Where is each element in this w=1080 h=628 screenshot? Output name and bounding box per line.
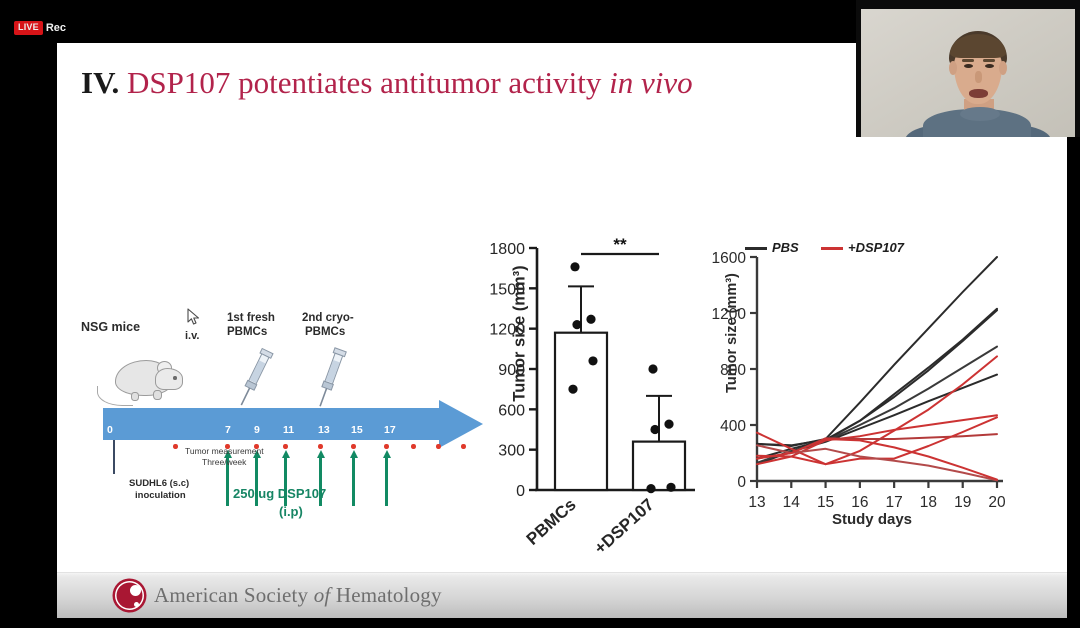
dose-label-line2: (i.p) [279, 504, 303, 519]
timeline-day-17: 17 [384, 424, 396, 436]
measurement-dot [283, 444, 288, 449]
inoculation-label-line1: SUDHL6 (s.c) [129, 478, 189, 489]
timeline-day-11: 11 [283, 424, 294, 436]
presenter-eyebrow-right [983, 59, 995, 62]
line-chart-x-axis-label: Study days [757, 511, 987, 528]
timeline-day-15: 15 [351, 424, 363, 436]
line-chart-ytick-0: 0 [737, 474, 746, 491]
tumor-size-endpoint-bar-chart: Tumor size (mm³) 0300600900120015001800P… [477, 228, 707, 548]
bar-chart-xtick-+DSP107: +DSP107 [591, 495, 658, 558]
line-chart-xtick-17: 17 [886, 494, 903, 511]
tumor-growth-curves-line-chart: Tumor size (mm³) Study days 040080012001… [697, 233, 1027, 553]
bar-+DSP107 [633, 442, 685, 490]
syringe-icon-first-pbmc [235, 346, 273, 412]
measurement-dot [411, 444, 416, 449]
screen-root: LIVE Rec IV. DSP107 potentiates anti [0, 0, 1080, 628]
line-chart-xtick-15: 15 [817, 494, 834, 511]
data-point-PBMCs [570, 262, 579, 271]
data-point-+DSP107 [664, 420, 673, 429]
line-chart-ytick-400: 400 [720, 418, 746, 435]
timeline-day-13: 13 [318, 424, 330, 436]
measurement-dot [461, 444, 466, 449]
series-line-PBS-2 [757, 309, 997, 446]
org-prefix: American Society [154, 583, 314, 607]
line-chart-xtick-18: 18 [920, 494, 937, 511]
legend-label-PBS: PBS [772, 240, 799, 255]
data-point-+DSP107 [666, 483, 675, 492]
line-chart-plot: 0400800120016001314151617181920 [697, 233, 1027, 533]
recording-indicator: LIVE Rec [14, 21, 66, 35]
bar-PBMCs [555, 333, 607, 490]
line-chart-xtick-14: 14 [783, 494, 801, 511]
mouse-illustration-icon [97, 348, 189, 410]
data-point-+DSP107 [650, 425, 659, 434]
presenter-nose [975, 71, 982, 83]
page-title: IV. DSP107 potentiates antitumor activit… [81, 65, 693, 101]
data-point-PBMCs [588, 356, 597, 365]
bar-chart-xtick-PBMCs: PBMCs [523, 495, 580, 549]
first-pbmc-label-line1: 1st fresh [227, 312, 275, 324]
tumor-measurement-label-line2: Three/week [202, 457, 246, 467]
syringe-icon-second-pbmc [311, 346, 349, 412]
timeline-day-9: 9 [254, 424, 260, 436]
org-suffix: Hematology [336, 583, 442, 607]
timeline-arrow: 07911131517 [103, 408, 483, 440]
presenter-eye-left [964, 64, 973, 68]
organization-name: American Society of Hematology [154, 583, 442, 608]
mouse-eye [173, 376, 177, 380]
line-chart-y-axis-label: Tumor size (mm³) [724, 258, 740, 408]
bar-chart-ytick-1800: 1800 [489, 241, 525, 258]
title-main-text: DSP107 potentiates antitumor activity [127, 65, 609, 100]
line-chart-xtick-20: 20 [988, 494, 1006, 511]
data-point-+DSP107 [646, 484, 655, 493]
presenter-ear-left [949, 61, 957, 75]
nsg-mice-label: NSG mice [81, 320, 140, 334]
presenter-eye-right [985, 64, 994, 68]
iv-route-label: i.v. [185, 330, 199, 342]
rec-label: Rec [46, 22, 66, 34]
presenter-eyebrow-left [962, 59, 974, 62]
tumor-measurement-label-line1: Tumor measurement [185, 446, 264, 456]
line-chart-xtick-19: 19 [954, 494, 971, 511]
line-chart-xtick-16: 16 [851, 494, 868, 511]
live-badge: LIVE [14, 21, 43, 35]
legend-label-+DSP107: +DSP107 [848, 240, 904, 255]
first-pbmc-label-line2: PBMCs [227, 326, 267, 338]
data-point-+DSP107 [648, 364, 657, 373]
bar-chart-y-axis-label: Tumor size (mm³) [511, 259, 530, 409]
significance-marker: ** [613, 235, 627, 254]
org-italic: of [314, 583, 336, 607]
ash-logo-icon [115, 581, 144, 610]
line-chart-xtick-13: 13 [748, 494, 765, 511]
data-point-PBMCs [572, 320, 581, 329]
mouse-leg-rear [131, 392, 139, 401]
title-numeral: IV. [81, 65, 119, 100]
measurement-dot [318, 444, 323, 449]
measurement-dot [384, 444, 389, 449]
bar-chart-ytick-300: 300 [498, 443, 525, 460]
legend-swatch-+DSP107 [821, 247, 843, 250]
presenter-video-feed[interactable] [856, 0, 1080, 137]
measurement-dot [173, 444, 178, 449]
second-pbmc-label-line1: 2nd cryo- [302, 312, 354, 324]
presenter-collar [960, 107, 1000, 121]
presenter-mouth [969, 89, 988, 98]
error-bar-+DSP107 [646, 396, 672, 442]
experiment-timeline-diagram: NSG mice i.v. 1st fresh PBMCs 2nd cryo- … [67, 268, 487, 533]
data-point-PBMCs [568, 385, 577, 394]
inoculation-connector-line [113, 440, 115, 474]
bar-chart-ytick-0: 0 [516, 483, 525, 500]
inoculation-label-line2: inoculation [135, 490, 186, 501]
data-point-PBMCs [586, 315, 595, 324]
slide-footer: American Society of Hematology [57, 572, 1067, 618]
presenter-ear-right [999, 61, 1007, 75]
title-italic-text: in vivo [609, 65, 693, 100]
timeline-day-0: 0 [107, 424, 113, 436]
dose-label-line1: 250 ug DSP107 [233, 486, 326, 501]
timeline-day-7: 7 [225, 424, 231, 436]
legend-swatch-PBS [745, 247, 767, 250]
mouse-cursor-icon [187, 308, 201, 326]
presenter-video-frame [861, 9, 1075, 137]
measurement-dot [351, 444, 356, 449]
second-pbmc-label-line2: PBMCs [305, 326, 345, 338]
measurement-dot [436, 444, 441, 449]
mouse-leg-front [153, 390, 162, 400]
mouse-head [155, 368, 183, 390]
